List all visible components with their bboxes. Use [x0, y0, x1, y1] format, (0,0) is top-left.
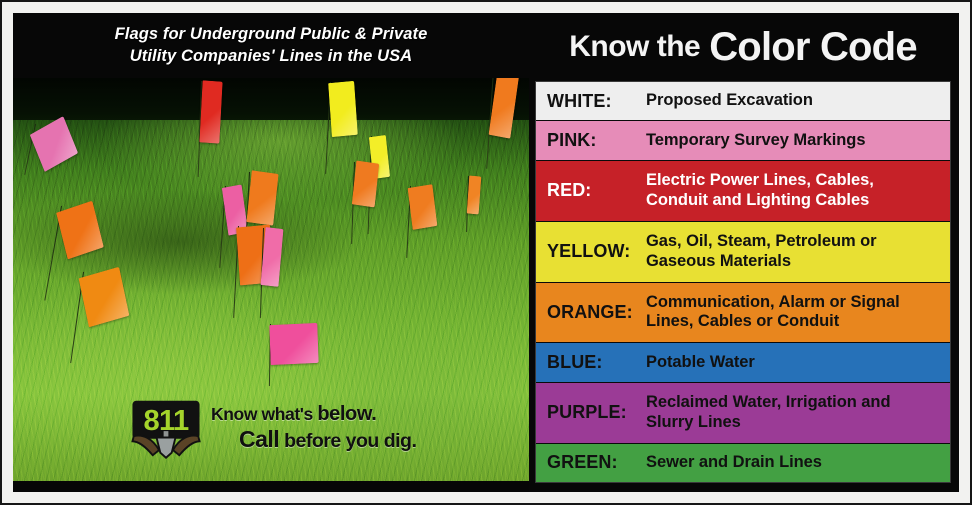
tagline-line-2: Call before you dig.	[239, 428, 416, 452]
tagline-call: Call	[239, 426, 279, 452]
flag-cloth	[408, 184, 438, 230]
color-code-desc-line: Gaseous Materials	[646, 252, 942, 271]
color-code-description: Sewer and Drain Lines	[646, 453, 948, 472]
poster-white-frame: Flags for Underground Public & Private U…	[2, 2, 970, 503]
utility-flags-photo: 811 Know what's below. Call before you d…	[13, 76, 529, 481]
poster-inner-black: Flags for Underground Public & Private U…	[13, 13, 959, 492]
flag-cloth	[269, 323, 318, 365]
color-code-label: ORANGE:	[538, 302, 646, 323]
color-code-desc-line: Lines, Cables or Conduit	[646, 312, 942, 331]
color-code-label: RED:	[538, 180, 646, 201]
color-code-desc-line: Communication, Alarm or Signal	[646, 293, 942, 312]
color-code-description: Reclaimed Water, Irrigation andSlurry Li…	[646, 393, 948, 432]
color-code-description: Communication, Alarm or SignalLines, Cab…	[646, 293, 948, 332]
color-code-label: PURPLE:	[538, 402, 646, 423]
color-code-desc-line: Reclaimed Water, Irrigation and	[646, 393, 942, 412]
color-code-row: PINK:Temporary Survey Markings	[536, 121, 950, 160]
color-code-pane: Know the Color Code WHITE:Proposed Excav…	[529, 13, 959, 492]
color-code-description: Potable Water	[646, 353, 948, 372]
tagline-line-1: Know what's below.	[211, 404, 416, 424]
title-color-code: Color Code	[709, 25, 917, 70]
color-code-desc-line: Slurry Lines	[646, 413, 942, 432]
tagline-before-you-dig: before you dig.	[279, 430, 416, 452]
color-code-row: ORANGE:Communication, Alarm or SignalLin…	[536, 283, 950, 344]
caption-line-2: Utility Companies' Lines in the USA	[115, 46, 428, 68]
flag-cloth	[328, 81, 358, 137]
color-code-label: WHITE:	[538, 91, 646, 112]
color-code-table: WHITE:Proposed ExcavationPINK:Temporary …	[535, 81, 951, 483]
color-code-label: YELLOW:	[538, 241, 646, 262]
color-code-label: BLUE:	[538, 352, 646, 373]
left-photo-pane: Flags for Underground Public & Private U…	[13, 13, 529, 492]
color-code-description: Proposed Excavation	[646, 91, 948, 110]
logo-811-tagline: Know what's below. Call before you dig.	[211, 404, 416, 452]
tagline-know-what: Know what's	[211, 404, 317, 424]
color-code-description: Gas, Oil, Steam, Petroleum orGaseous Mat…	[646, 232, 948, 271]
color-code-row: GREEN:Sewer and Drain Lines	[536, 444, 950, 482]
color-code-desc-line: Electric Power Lines, Cables,	[646, 171, 942, 190]
color-code-row: BLUE:Potable Water	[536, 343, 950, 382]
title-know-the: Know the	[569, 30, 700, 64]
shovel-811-icon: 811	[131, 397, 201, 459]
poster-root: Flags for Underground Public & Private U…	[0, 0, 972, 505]
color-code-desc-line: Gas, Oil, Steam, Petroleum or	[646, 232, 942, 251]
photo-caption-bar: Flags for Underground Public & Private U…	[13, 13, 529, 78]
color-code-title: Know the Color Code	[535, 13, 951, 81]
color-code-label: PINK:	[538, 130, 646, 151]
color-code-label: GREEN:	[538, 452, 646, 473]
color-code-description: Electric Power Lines, Cables,Conduit and…	[646, 171, 948, 210]
svg-text:811: 811	[143, 405, 188, 437]
caption-line-1: Flags for Underground Public & Private	[115, 24, 428, 46]
color-code-row: RED:Electric Power Lines, Cables,Conduit…	[536, 161, 950, 222]
logo-811-mark: 811	[131, 397, 201, 459]
photo-caption: Flags for Underground Public & Private U…	[99, 24, 444, 68]
flag-cloth	[352, 161, 379, 208]
color-code-desc-line: Conduit and Lighting Cables	[646, 191, 942, 210]
color-code-row: PURPLE:Reclaimed Water, Irrigation andSl…	[536, 383, 950, 444]
tagline-below: below.	[317, 403, 376, 425]
flag-cloth	[199, 80, 222, 143]
color-code-description: Temporary Survey Markings	[646, 131, 948, 150]
color-code-row: YELLOW:Gas, Oil, Steam, Petroleum orGase…	[536, 222, 950, 283]
color-code-row: WHITE:Proposed Excavation	[536, 82, 950, 121]
logo-811-block: 811 Know what's below. Call before you d…	[131, 397, 416, 459]
flag-cloth	[246, 170, 278, 225]
poster-outer-edge: Flags for Underground Public & Private U…	[0, 0, 972, 505]
